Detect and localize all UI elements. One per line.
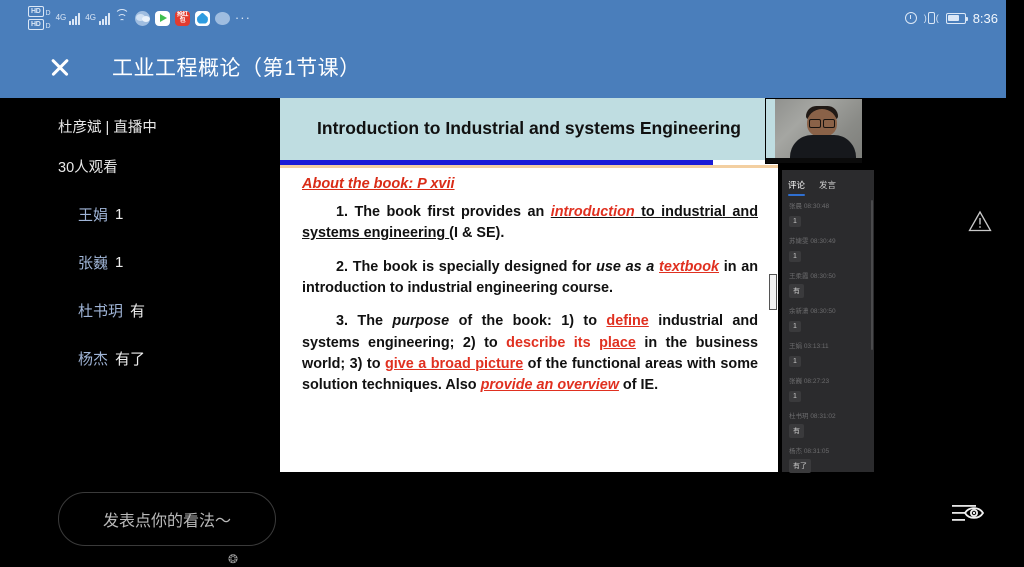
slide-body: About the book: P xvii 1. The book first… [280,168,778,397]
warning-triangle-icon[interactable] [968,210,992,232]
comment-meta: 王柔霞 08:30:50 [789,270,868,280]
eye-visibility-icon[interactable] [950,500,992,526]
tab-speak[interactable]: 发言 [819,179,836,196]
live-session-titlebar: 工业工程概论（第1节课） [0,36,1006,98]
list-item: 杜书玥 有 [78,286,268,334]
wifi-icon [115,12,130,24]
comment-meta: 杨杰 08:31:05 [789,445,868,455]
list-item: 张巍 1 [78,238,268,286]
comment-author: 张晨 [789,203,802,210]
hd-volte-icon: HD [28,6,44,17]
signal-4g-icon: 4G [56,12,81,25]
android-status-bar: HD D HD D 4G 4G 抢红包 ··· )( 8:36 [0,0,1006,36]
comment-time: 08:31:02 [810,413,835,420]
slide-paragraph-2: 2. The book is specially designed for us… [302,257,758,300]
comment-time: 08:27:23 [804,378,829,385]
comment-meta: 杜书玥 08:31:02 [789,410,868,420]
chat-overlay-column: 杜彦斌 | 直播中 30人观看 王娟 1 张巍 1 杜书玥 有 杨杰 有了 发表… [0,98,280,472]
status-right-icons: )( 8:36 [905,11,998,26]
list-item: 杜书玥 08:31:02 有 [789,410,868,438]
hd-volte-icon-2: HD [28,19,44,30]
comment-text: 1 [789,251,801,262]
signal-label-2: 4G [85,13,96,22]
comment-meta: 张巍 08:27:23 [789,375,868,385]
comment-text: 1 [789,321,801,332]
comment-text: 有 [789,284,804,298]
comment-text: 1 [789,391,801,402]
list-item: 张巍 08:27:23 1 [789,375,868,403]
list-item: 苏婕雯 08:30:49 1 [789,235,868,263]
comment-meta: 余新潇 08:30:50 [789,305,868,315]
presenter-video-thumbnail[interactable] [765,98,863,164]
list-item: 余新潇 08:30:50 1 [789,305,868,333]
comment-input[interactable]: 发表点你的看法～ [58,492,276,546]
chat-text: 有了 [115,348,145,369]
list-item: 杨杰 08:31:05 有了 [789,445,868,473]
comment-time: 08:30:50 [810,308,835,315]
cloud-app-icon [195,11,210,26]
comment-text: 1 [789,356,801,367]
list-item: 杨杰 有了 [78,334,268,382]
page-title: 工业工程概论（第1节课） [112,52,361,82]
chat-message-list: 王娟 1 张巍 1 杜书玥 有 杨杰 有了 [78,190,268,382]
tab-comments[interactable]: 评论 [788,179,805,196]
slide-subheading: About the book: P xvii [302,176,758,192]
comment-meta: 王娟 03:13:11 [789,340,868,350]
comment-panel[interactable]: 评论 发言 张晨 08:30:48 1 苏婕雯 08:30:49 1 王柔霞 [782,170,874,472]
list-item: 王柔霞 08:30:50 有 [789,270,868,298]
chat-text: 1 [115,254,123,271]
comment-author: 王柔霞 [789,273,809,280]
close-icon[interactable] [48,55,72,79]
comment-list: 张晨 08:30:48 1 苏婕雯 08:30:49 1 王柔霞 08:30:5… [782,196,874,473]
chat-author: 张巍 [78,252,108,273]
list-item: 王娟 1 [78,190,268,238]
chat-author: 杜书玥 [78,300,123,321]
status-left-icons: HD D HD D 4G 4G 抢红包 ··· [28,6,251,30]
red-app-icon: 抢红包 [175,11,190,26]
comment-author: 余新潇 [789,308,809,315]
comment-author: 杜书玥 [789,413,809,420]
vibrate-icon: )( [924,12,939,24]
volte-sub-1: D [46,10,51,17]
host-status-label: 杜彦斌 | 直播中 [58,116,157,137]
comment-scrollbar-thumb[interactable] [871,200,873,350]
comment-time: 03:13:11 [804,343,829,350]
comment-text: 有 [789,424,804,438]
comment-author: 张巍 [789,378,802,385]
wechat-icon [135,11,150,26]
overflow-dots-icon: ··· [235,14,251,22]
comment-time: 08:30:49 [810,238,835,245]
comment-author: 杨杰 [789,448,802,455]
volte-sub-2: D [46,23,51,30]
comment-time: 08:30:48 [804,203,829,210]
slide-paragraph-1: 1. The book first provides an introducti… [302,202,758,245]
comment-author: 苏婕雯 [789,238,809,245]
live-stage: 杜彦斌 | 直播中 30人观看 王娟 1 张巍 1 杜书玥 有 杨杰 有了 发表… [0,98,1024,472]
slide-header: Introduction to Industrial and systems E… [280,98,778,160]
comment-text: 有了 [789,459,811,473]
alarm-icon [905,12,917,24]
comment-time: 08:31:05 [804,448,829,455]
comment-text: 1 [789,216,801,227]
play-store-icon [155,11,170,26]
comment-author: 王娟 [789,343,802,350]
comment-panel-tabs: 评论 发言 [782,170,874,196]
screen-bezel-right [1006,0,1024,98]
list-item: 张晨 08:30:48 1 [789,200,868,228]
slide-title: Introduction to Industrial and systems E… [317,118,741,140]
shared-slide[interactable]: Introduction to Industrial and systems E… [280,98,778,472]
chat-author: 杨杰 [78,348,108,369]
battery-icon [946,13,966,24]
message-bubble-icon [215,12,230,25]
viewer-count-label: 30人观看 [58,156,118,177]
chat-author: 王娟 [78,204,108,225]
list-item: 王娟 03:13:11 1 [789,340,868,368]
signal-label-1: 4G [56,13,67,22]
slide-scrollbar-thumb[interactable] [769,274,777,310]
comment-time: 08:30:50 [810,273,835,280]
chat-text: 有 [130,300,145,321]
chat-text: 1 [115,206,123,223]
signal-4g-icon-2: 4G [85,12,110,25]
status-clock: 8:36 [973,11,998,26]
pinwheel-icon: ❂ [228,553,242,567]
comment-meta: 苏婕雯 08:30:49 [789,235,868,245]
volte-badges: HD D HD D [28,6,51,30]
slide-paragraph-3: 3. The purpose of the book: 1) to define… [302,311,758,396]
comment-meta: 张晨 08:30:48 [789,200,868,210]
